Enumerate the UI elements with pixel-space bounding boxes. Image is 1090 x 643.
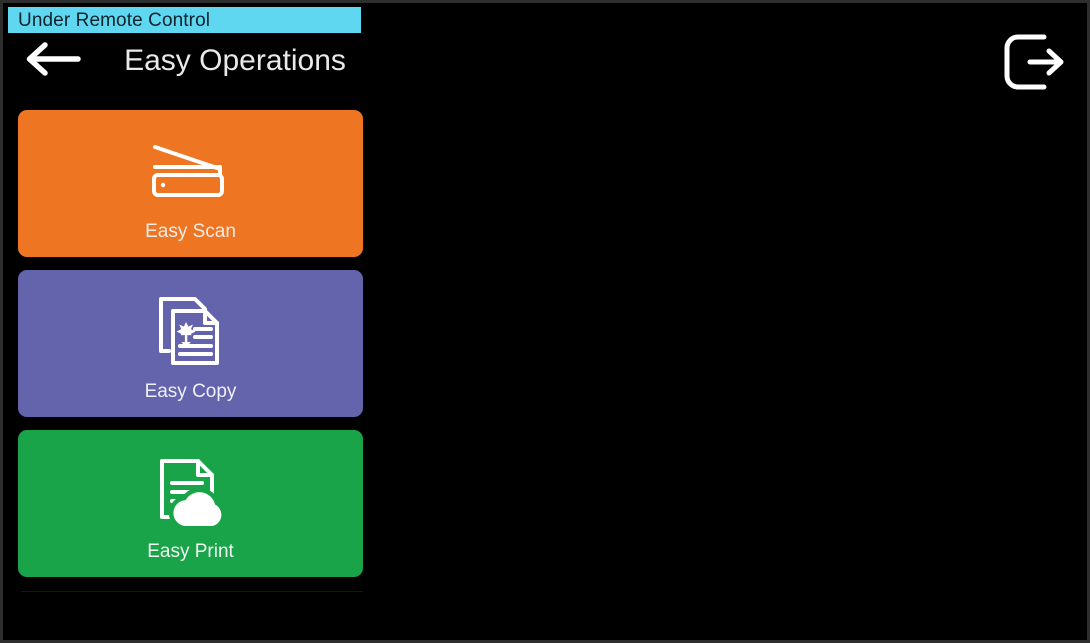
remote-control-banner-label: Under Remote Control	[18, 11, 210, 30]
tile-easy-copy-label: Easy Copy	[18, 381, 363, 403]
scanner-icon	[148, 132, 234, 210]
tile-easy-scan-label: Easy Scan	[18, 221, 363, 243]
tile-easy-scan[interactable]: Easy Scan	[18, 110, 363, 257]
logout-button[interactable]	[999, 31, 1071, 97]
remote-control-banner: Under Remote Control	[8, 7, 361, 33]
list-divider	[21, 591, 363, 592]
back-button[interactable]	[17, 36, 87, 86]
copy-documents-icon	[155, 292, 227, 370]
cloud-print-icon	[152, 452, 230, 530]
page-title: Easy Operations	[99, 37, 371, 85]
tile-easy-copy[interactable]: Easy Copy	[18, 270, 363, 417]
logout-icon	[1002, 32, 1068, 97]
tile-easy-print[interactable]: Easy Print	[18, 430, 363, 577]
page-title-label: Easy Operations	[124, 44, 346, 78]
tile-easy-print-label: Easy Print	[18, 541, 363, 563]
easy-operations-tile-list: Easy Scan	[18, 110, 363, 590]
printer-touchscreen: Under Remote Control Easy Operations	[0, 0, 1090, 643]
header-bar: Easy Operations	[3, 33, 1087, 95]
arrow-left-icon	[23, 42, 81, 81]
